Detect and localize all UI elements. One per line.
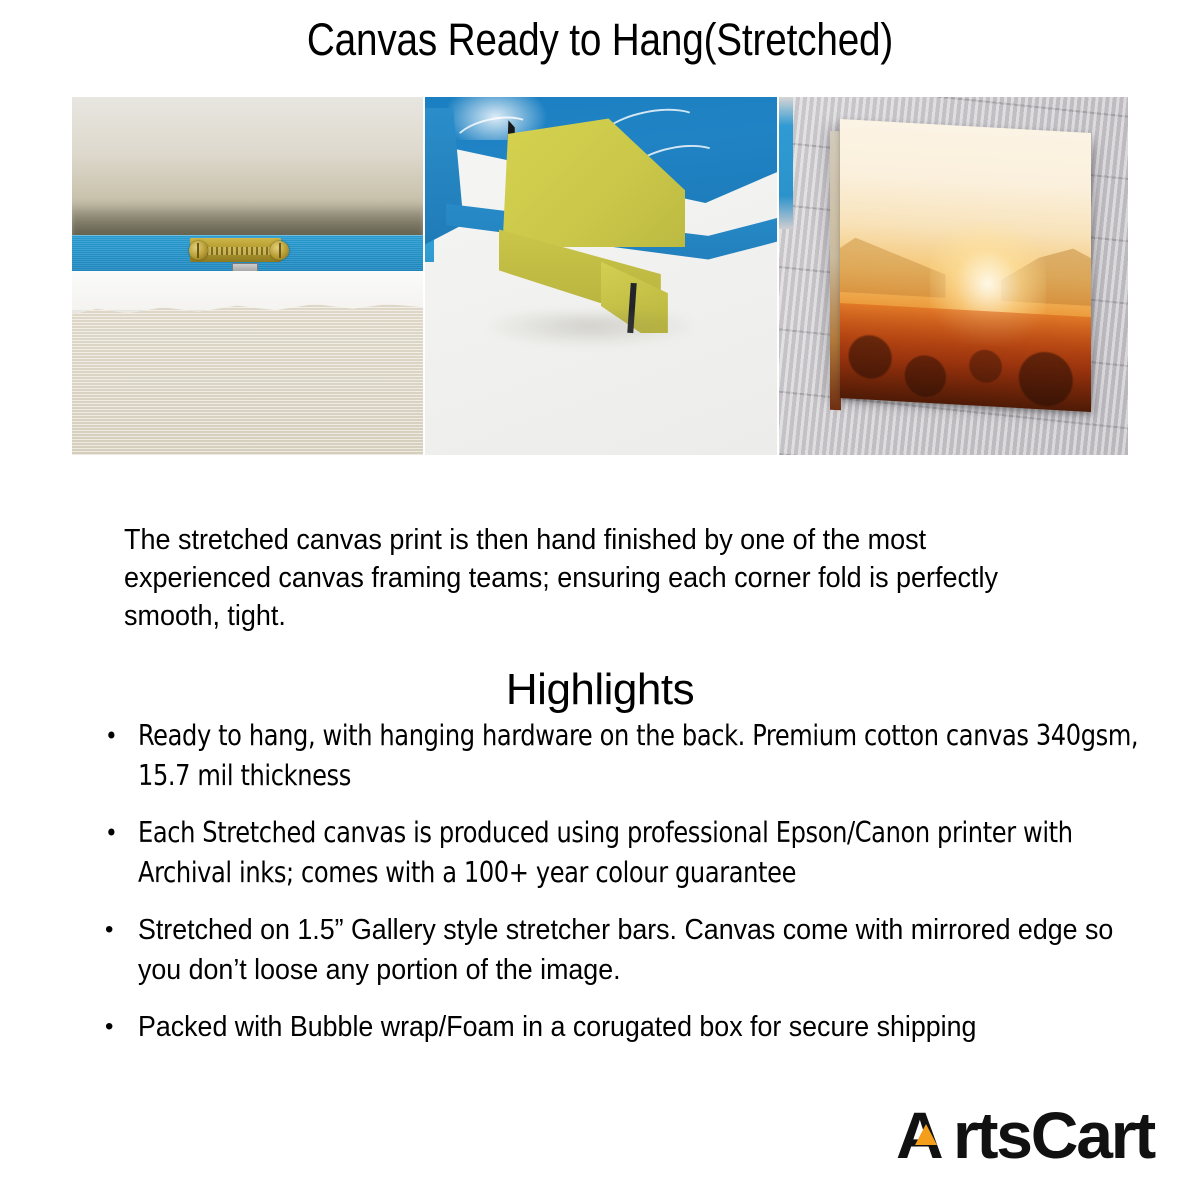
bullet-icon: • xyxy=(105,716,117,756)
photo3-canvas-print-face xyxy=(840,119,1091,412)
photo1-screw-left xyxy=(189,241,208,260)
logo-a-mark: A xyxy=(896,1106,956,1164)
bullet-icon: • xyxy=(105,910,113,950)
bullet-icon: • xyxy=(105,813,117,853)
photo3-blue-edge-bleed xyxy=(779,97,793,229)
photo1-raw-canvas-texture xyxy=(72,301,423,455)
highlight-item-4-text: Packed with Bubble wrap/Foam in a coruga… xyxy=(138,1007,1139,1047)
highlight-item-3-text: Stretched on 1.5” Gallery style stretche… xyxy=(138,910,1139,990)
page-title: Canvas Ready to Hang(Stretched) xyxy=(84,14,1116,66)
highlight-item-2-text: Each Stretched canvas is produced using … xyxy=(138,813,1139,893)
highlights-list: • Ready to hang, with hanging hardware o… xyxy=(103,716,1143,1064)
photo2-table-shadow xyxy=(481,312,699,348)
photo-corner-fold-detail xyxy=(425,97,777,455)
brand-logo: A rtsCart xyxy=(896,1104,1154,1166)
highlight-item-1: • Ready to hang, with hanging hardware o… xyxy=(103,716,1143,796)
highlights-heading: Highlights xyxy=(0,665,1200,715)
highlight-item-2: • Each Stretched canvas is produced usin… xyxy=(103,813,1143,893)
photo1-white-surface xyxy=(72,271,423,310)
highlight-item-3: • Stretched on 1.5” Gallery style stretc… xyxy=(103,910,1143,990)
photo3-foreground-landscape xyxy=(840,303,1091,412)
photo-canvas-back-hanging-hardware xyxy=(72,97,423,455)
logo-wordmark: rtsCart xyxy=(953,1106,1154,1164)
orange-triangle-icon xyxy=(915,1124,937,1145)
product-image-strip xyxy=(72,97,1128,455)
highlight-item-1-text: Ready to hang, with hanging hardware on … xyxy=(138,716,1139,796)
highlight-item-4: • Packed with Bubble wrap/Foam in a coru… xyxy=(103,1007,1143,1047)
intro-paragraph: The stretched canvas print is then hand … xyxy=(124,521,1017,635)
bullet-icon: • xyxy=(105,1007,113,1047)
photo-hung-canvas-on-wall xyxy=(779,97,1128,455)
